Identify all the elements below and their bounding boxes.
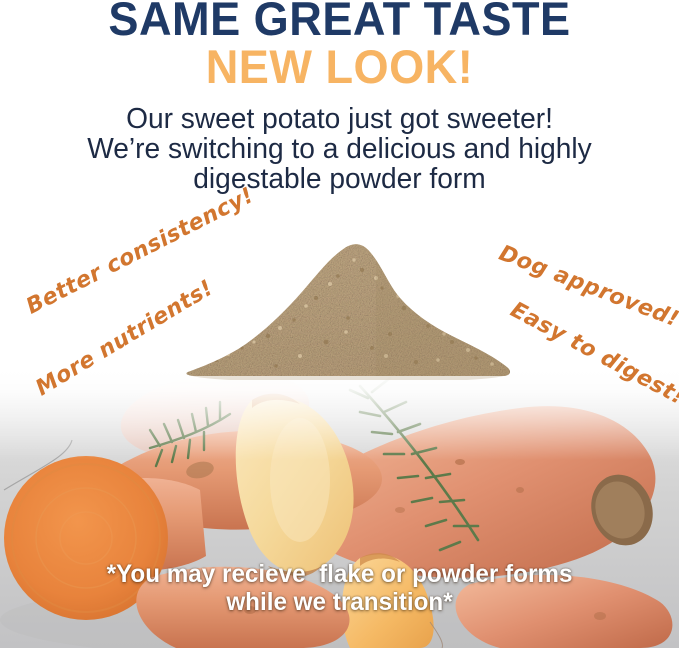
powder-mound [176, 232, 516, 380]
powder-svg [176, 232, 516, 380]
subheadline-block: Our sweet potato just got sweeter! We’re… [10, 104, 669, 194]
subheadline-line-1: Our sweet potato just got sweeter! [10, 104, 669, 134]
footnote-line-1: *You may recieve flake or powder forms [10, 560, 669, 588]
headline-block: SAME GREAT TASTE NEW LOOK! [0, 0, 679, 92]
subheadline-line-2: We’re switching to a delicious and highl… [10, 134, 669, 164]
headline-line-1: SAME GREAT TASTE [14, 0, 666, 44]
powder-pile-image [176, 232, 516, 380]
footnote-block: *You may recieve flake or powder forms w… [10, 560, 669, 616]
headline-line-2: NEW LOOK! [14, 42, 666, 92]
promo-poster: SAME GREAT TASTE NEW LOOK! Our sweet pot… [0, 0, 679, 648]
subheadline-line-3: digestable powder form [10, 164, 669, 194]
footnote-line-2: while we transition* [10, 588, 669, 616]
